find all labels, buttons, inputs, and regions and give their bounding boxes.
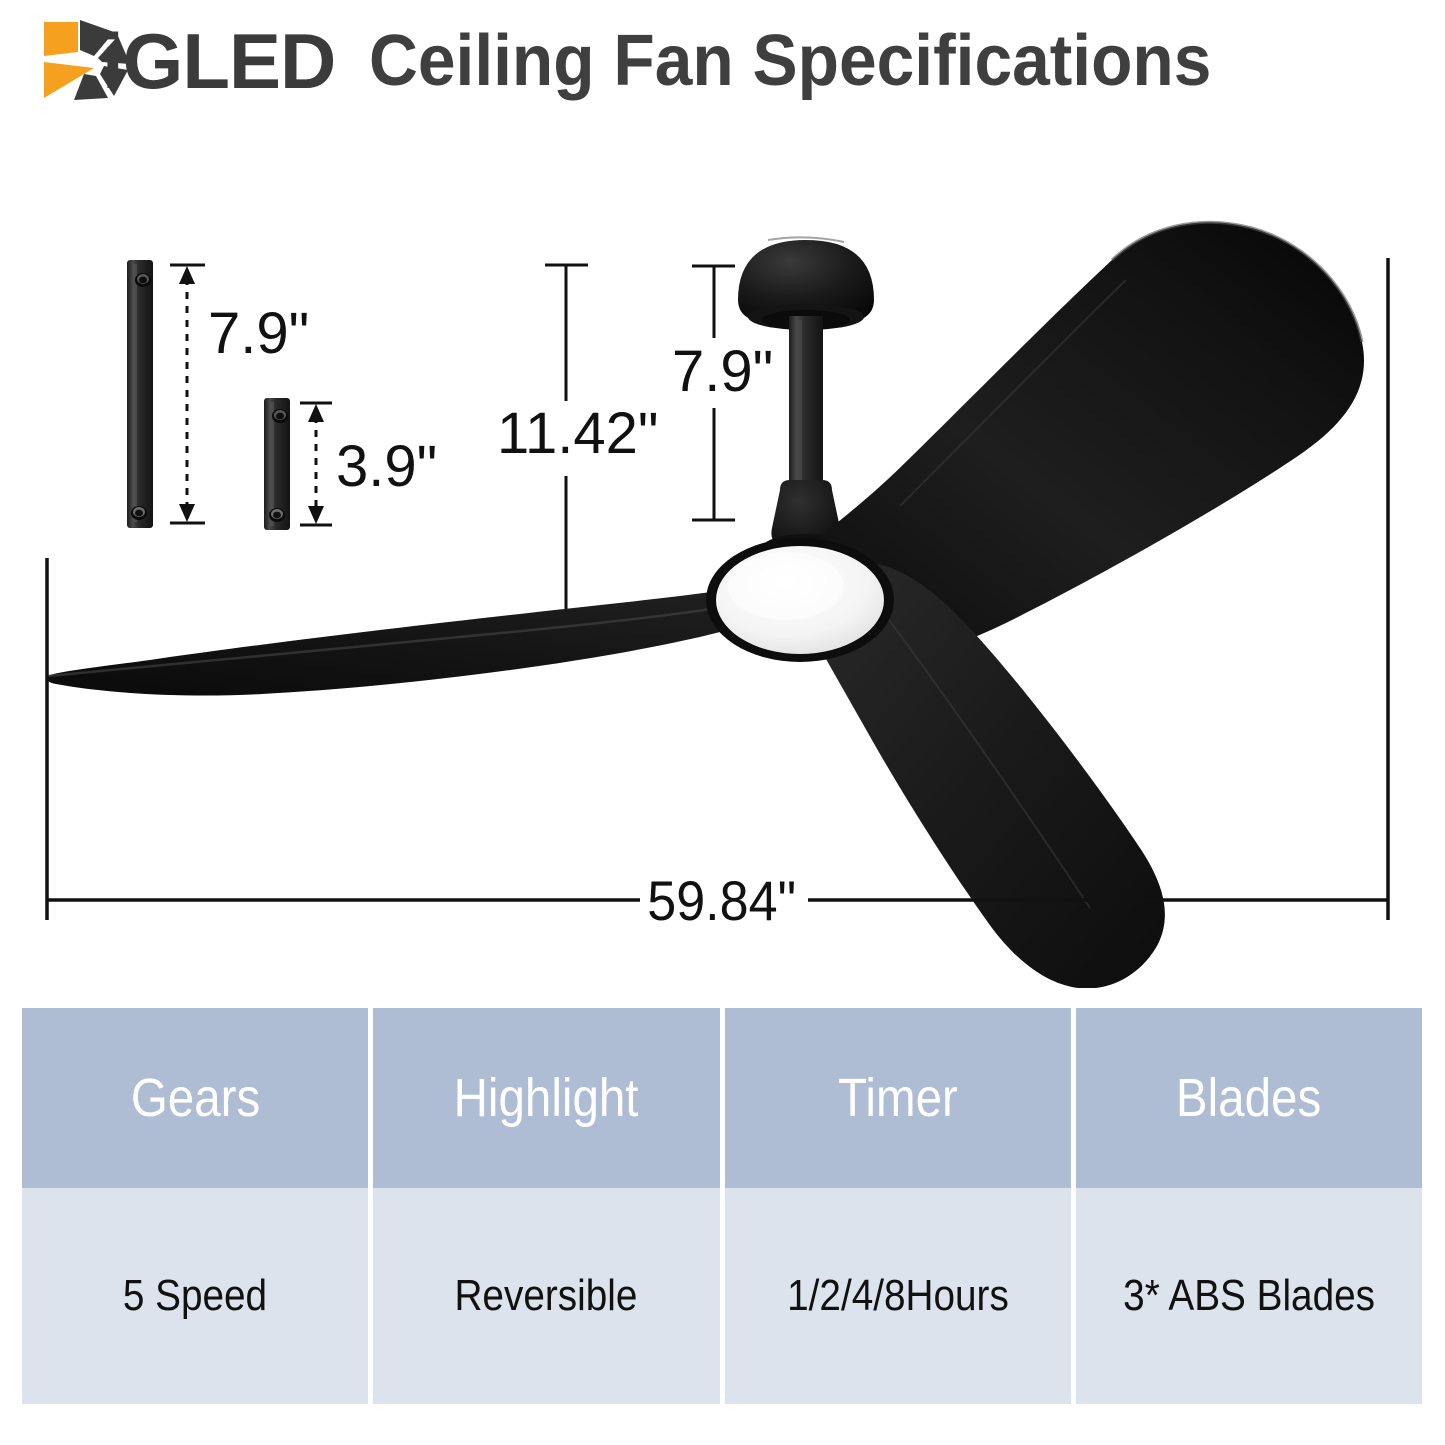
blade-left-part xyxy=(46,578,807,696)
table-cell-highlight: Reversible xyxy=(373,1188,724,1404)
brand-wordmark: iGLED xyxy=(102,22,335,100)
table-cell-timer: 1/2/4/8Hours xyxy=(725,1188,1076,1404)
dimension-downrod-long xyxy=(170,265,205,523)
table-header-row: Gears Highlight Timer Blades xyxy=(22,1008,1422,1188)
table-header-timer: Timer xyxy=(725,1008,1076,1188)
table-header-highlight-label: Highlight xyxy=(454,1067,639,1129)
downrod-short-part xyxy=(264,398,290,530)
table-cell-gears: 5 Speed xyxy=(22,1188,373,1404)
table-cell-highlight-value: Reversible xyxy=(455,1271,638,1321)
page-title: Ceiling Fan Specifications xyxy=(369,25,1211,97)
table-row: 5 Speed Reversible 1/2/4/8Hours 3* ABS B… xyxy=(22,1188,1422,1404)
dimension-downrod-short xyxy=(300,403,332,525)
table-header-gears: Gears xyxy=(22,1008,373,1188)
table-header-blades-label: Blades xyxy=(1176,1067,1321,1129)
dim-label-downrod-long: 7.9" xyxy=(208,301,309,366)
table-cell-timer-value: 1/2/4/8Hours xyxy=(787,1271,1009,1321)
dim-label-blade-span: 59.84" xyxy=(647,870,796,932)
specifications-table: Gears Highlight Timer Blades 5 Speed Rev… xyxy=(22,1008,1422,1404)
table-header-blades: Blades xyxy=(1076,1008,1422,1188)
fan-downrod-part xyxy=(789,316,823,496)
product-diagram: 7.9" 3.9" 11.42" 7.9" xyxy=(0,108,1445,988)
led-light-kit-part xyxy=(706,538,894,662)
table-cell-gears-value: 5 Speed xyxy=(123,1271,267,1321)
table-header-gears-label: Gears xyxy=(130,1067,259,1129)
table-header-timer-label: Timer xyxy=(838,1067,958,1129)
table-cell-blades-value: 3* ABS Blades xyxy=(1123,1271,1375,1321)
table-header-highlight: Highlight xyxy=(373,1008,724,1188)
page-header: iGLED Ceiling Fan Specifications xyxy=(0,0,1445,118)
table-cell-blades: 3* ABS Blades xyxy=(1076,1188,1422,1404)
downrod-long-part xyxy=(127,260,153,528)
dim-label-fan-height: 11.42" xyxy=(497,401,658,466)
dim-label-drop-height: 7.9" xyxy=(672,339,773,404)
dim-label-downrod-short: 3.9" xyxy=(336,434,437,499)
